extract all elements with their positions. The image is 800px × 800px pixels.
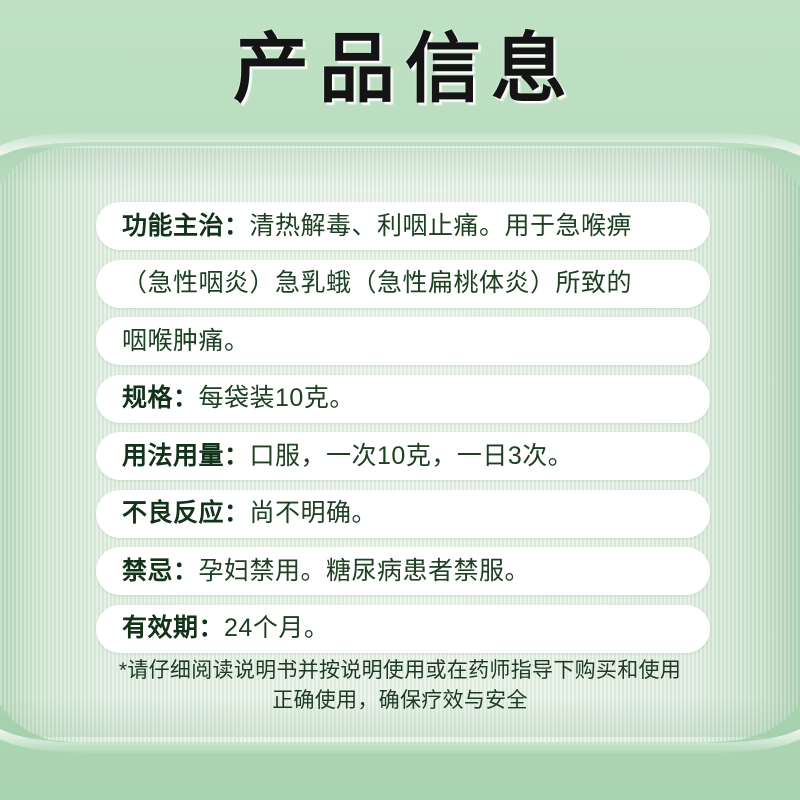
info-row-text: （急性咽炎）急乳蛾（急性扁桃体炎）所致的 bbox=[122, 271, 632, 296]
info-row-list: 功能主治：清热解毒、利咽止痛。用于急喉痹（急性咽炎）急乳蛾（急性扁桃体炎）所致的… bbox=[96, 202, 710, 662]
info-row: 禁忌：孕妇禁用。糖尿病患者禁服。 bbox=[96, 547, 710, 595]
info-row-text: 用法用量：口服，一次10克，一日3次。 bbox=[122, 444, 573, 469]
info-row-value: 孕妇禁用。糖尿病患者禁服。 bbox=[199, 557, 531, 585]
info-row-value: 每袋装10克。 bbox=[199, 384, 355, 412]
info-row-label: 不良反应： bbox=[122, 499, 250, 527]
footnote: *请仔细阅读说明书并按说明使用或在药师指导下购买和使用 正确使用，确保疗效与安全 bbox=[0, 656, 800, 716]
info-row-label: 有效期： bbox=[122, 614, 224, 642]
title-area: 产品信息 bbox=[0, 0, 800, 140]
info-row: 有效期：24个月。 bbox=[96, 605, 710, 653]
product-info-card: 产品信息 功能主治：清热解毒、利咽止痛。用于急喉痹（急性咽炎）急乳蛾（急性扁桃体… bbox=[0, 0, 800, 800]
info-row-value: 尚不明确。 bbox=[250, 499, 378, 527]
info-row-label: 规格： bbox=[122, 384, 199, 412]
info-row: 不良反应：尚不明确。 bbox=[96, 490, 710, 538]
info-row: （急性咽炎）急乳蛾（急性扁桃体炎）所致的 bbox=[96, 260, 710, 308]
info-row: 咽喉肿痛。 bbox=[96, 317, 710, 365]
page-title: 产品信息 bbox=[223, 32, 577, 108]
info-row-label: 功能主治： bbox=[122, 212, 250, 240]
footnote-line-2: 正确使用，确保疗效与安全 bbox=[0, 686, 800, 716]
info-row: 规格：每袋装10克。 bbox=[96, 375, 710, 423]
info-row-text: 咽喉肿痛。 bbox=[122, 329, 250, 354]
info-row-value: 口服，一次10克，一日3次。 bbox=[250, 442, 574, 470]
info-row: 用法用量：口服，一次10克，一日3次。 bbox=[96, 432, 710, 480]
info-row-text: 禁忌：孕妇禁用。糖尿病患者禁服。 bbox=[122, 559, 530, 584]
info-row-text: 不良反应：尚不明确。 bbox=[122, 501, 377, 526]
info-row-value: （急性咽炎）急乳蛾（急性扁桃体炎）所致的 bbox=[122, 269, 632, 297]
info-row: 功能主治：清热解毒、利咽止痛。用于急喉痹 bbox=[96, 202, 710, 250]
info-row-value: 24个月。 bbox=[224, 614, 329, 642]
info-row-value: 咽喉肿痛。 bbox=[122, 327, 250, 355]
info-row-value: 清热解毒、利咽止痛。用于急喉痹 bbox=[250, 212, 633, 240]
info-row-label: 禁忌： bbox=[122, 557, 199, 585]
info-row-text: 功能主治：清热解毒、利咽止痛。用于急喉痹 bbox=[122, 214, 632, 239]
info-row-text: 有效期：24个月。 bbox=[122, 616, 329, 641]
info-row-text: 规格：每袋装10克。 bbox=[122, 386, 355, 411]
footnote-line-1: *请仔细阅读说明书并按说明使用或在药师指导下购买和使用 bbox=[0, 656, 800, 686]
info-row-label: 用法用量： bbox=[122, 442, 250, 470]
